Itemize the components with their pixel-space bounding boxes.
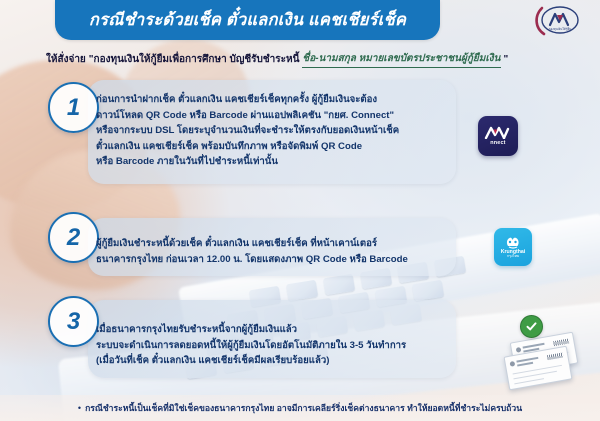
step-number-circle-3: 3 <box>48 296 99 347</box>
step-3-line-1: เมื่อธนาคารกรุงไทยรับชำระหนี้จากผู้กู้ยื… <box>96 322 456 338</box>
footer-note: • กรณีชำระหนี้เป็นเช็คที่มิใช่เช็คของธนา… <box>0 395 600 421</box>
step-1-line-3: หรือจากระบบ DSL โดยระบุจำนวนเงินที่จะชำร… <box>96 123 456 139</box>
step-2-line-1: ผู้กู้ยืมเงินชำระหนี้ด้วยเช็ค ตั๋วแลกเงิ… <box>96 236 456 252</box>
kyose-logo: กองทุนเงินให้กู้ยืม <box>530 3 586 39</box>
step-2-line-2: ธนาคารกรุงไทย ก่อนเวลา 12.00 น. โดยแสดงภ… <box>96 252 456 268</box>
header-banner: กรณีชำระด้วยเช็ค ตั๋วแลกเงิน แคชเชียร์เช… <box>55 0 440 40</box>
step-3-line-2: ระบบจะดำเนินการลดยอดหนี้ให้ผู้กู้ยืมเงิน… <box>96 338 456 354</box>
step-text-3: เมื่อธนาคารกรุงไทยรับชำระหนี้จากผู้กู้ยื… <box>96 322 456 369</box>
step-number-2: 2 <box>67 226 80 250</box>
step-1-line-5: หรือ Barcode ภายในวันที่ไปชำระหนี้เท่านั… <box>96 154 456 170</box>
step-number-3: 3 <box>67 310 80 334</box>
kyose-connect-app-icon: nnect <box>478 116 518 156</box>
step-3-line-3: (เมื่อวันที่เช็ค ตั๋วแลกเงิน แคชเชียร์เช… <box>96 353 456 369</box>
payee-lead-label: ให้สั่งจ่าย <box>46 52 86 67</box>
step-1-line-2: ดาวน์โหลด QR Code หรือ Barcode ผ่านแอปพล… <box>96 108 456 124</box>
krungthai-bank-logo: Krungthai กรุงไทย <box>494 228 532 266</box>
step-number-1: 1 <box>67 96 80 120</box>
infographic-poster: กรณีชำระด้วยเช็ค ตั๋วแลกเงิน แคชเชียร์เช… <box>0 0 600 421</box>
page-title: กรณีชำระด้วยเช็ค ตั๋วแลกเงิน แคชเชียร์เช… <box>89 7 406 33</box>
step-1-line-4: ตั๋วแลกเงิน แคชเชียร์เช็ค พร้อมบันทึกภาพ… <box>96 139 456 155</box>
payee-borrower-info: ชื่อ-นามสกุล หมายเลขบัตรประชาชนผู้กู้ยืม… <box>302 51 500 68</box>
step-text-2: ผู้กู้ยืมเงินชำระหนี้ด้วยเช็ค ตั๋วแลกเงิ… <box>96 236 456 267</box>
footer-bullet-icon: • <box>78 403 81 413</box>
step-1-line-1: ก่อนการนำฝากเช็ค ตั๋วแลกเงิน แคชเชียร์เช… <box>96 92 456 108</box>
footer-note-text: กรณีชำระหนี้เป็นเช็คที่มิใช่เช็คของธนาคา… <box>85 401 522 415</box>
step-text-1: ก่อนการนำฝากเช็ค ตั๋วแลกเงิน แคชเชียร์เช… <box>96 92 456 170</box>
krungthai-vayupak-icon <box>505 235 522 250</box>
step-number-circle-1: 1 <box>48 82 99 133</box>
payee-instruction: ให้สั่งจ่าย "กองทุนเงินให้กู้ยืมเพื่อการ… <box>46 50 566 68</box>
app-icon-label: nnect <box>490 140 505 146</box>
payee-account-name: "กองทุนเงินให้กู้ยืมเพื่อการศึกษา บัญชีร… <box>89 52 300 67</box>
kyose-connect-mark <box>483 126 513 139</box>
step-number-circle-2: 2 <box>48 212 99 263</box>
bank-name-thai-label: กรุงไทย <box>507 255 519 259</box>
payee-end-quote: " <box>504 54 509 65</box>
check-circle-icon <box>520 315 543 338</box>
